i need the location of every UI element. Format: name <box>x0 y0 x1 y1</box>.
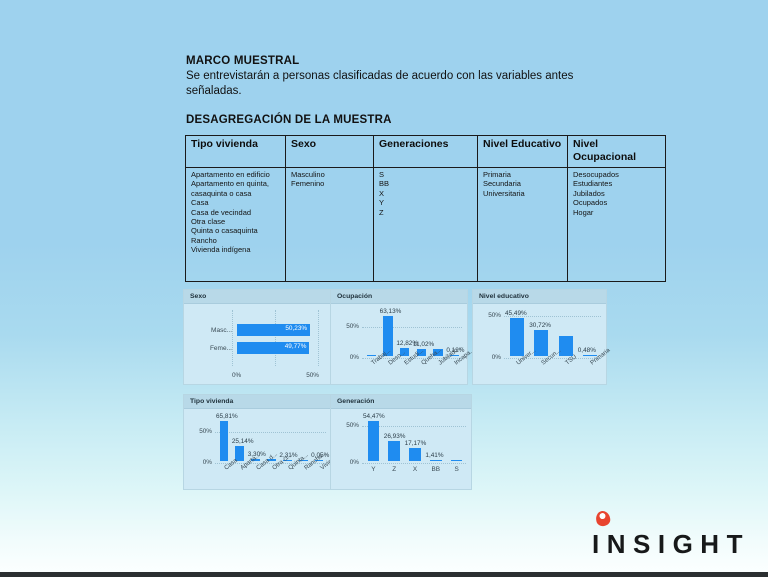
list-item: Otra clase <box>191 217 281 226</box>
bar-column[interactable] <box>368 419 379 461</box>
bar-value-label: 65,81% <box>216 413 238 420</box>
bar-rect[interactable] <box>235 446 244 461</box>
vertical-bar-chart-nivel-educativo: 0%50%45,49%30,72%0,48%Univer...Secun...T… <box>473 304 606 384</box>
bar-value-label: 17,17% <box>405 440 427 447</box>
axis-category-label: Y <box>363 466 384 473</box>
bar-value-label: 45,49% <box>505 310 527 317</box>
table-cell-nivel-educativo: PrimariaSecundariaUniversitaria <box>478 168 568 282</box>
chart-body-generacion: 0%50%54,47%26,93%17,17%1,41%YZXBBS <box>331 409 471 489</box>
chart-title-ocupacion: Ocupación <box>331 290 467 304</box>
chart-card-sexo[interactable]: Sexo Masc...50,23%Feme...49,77%0%50% <box>183 289 332 385</box>
bar-value-label: 0,48% <box>578 347 596 354</box>
bar-rect[interactable] <box>220 421 229 461</box>
list-item: S <box>379 170 473 179</box>
horizontal-bar-chart-sexo: Masc...50,23%Feme...49,77%0%50% <box>184 304 331 384</box>
chart-body-ocupacion: 0%50%63,13%12,82%11,02%0,12%Trabaj...Des… <box>331 304 467 384</box>
chart-title-generacion: Generación <box>331 395 471 409</box>
bar-row[interactable]: Feme...49,77% <box>192 342 317 354</box>
chart-card-nivel-educativo[interactable]: Nivel educativo 0%50%45,49%30,72%0,48%Un… <box>472 289 607 385</box>
bar-rect[interactable] <box>409 448 420 461</box>
page-title: MARCO MUESTRAL <box>186 54 606 68</box>
bar-column[interactable] <box>510 314 524 356</box>
bar-group: 54,47%26,93%17,17%1,41% <box>363 419 467 461</box>
bar-rect[interactable] <box>451 460 462 462</box>
axis-tick-label: 50% <box>188 428 212 435</box>
bar-track: 49,77% <box>237 342 317 354</box>
chart-body-tipo-vivienda: 0%50%65,81%25,14%3,30%2,31%0,05%CasaApar… <box>184 409 331 489</box>
table-header-tipo-vivienda: Tipo vivienda <box>186 136 286 168</box>
table-cell-sexo: MasculinoFemenino <box>286 168 374 282</box>
list-item: Casa <box>191 198 281 207</box>
list-item: Rancho <box>191 236 281 245</box>
vertical-bar-chart-generacion: 0%50%54,47%26,93%17,17%1,41%YZXBBS <box>331 409 471 489</box>
bar-row[interactable]: Masc...50,23% <box>192 324 317 336</box>
gridline <box>275 310 276 366</box>
list-item: Vivienda indígena <box>191 245 281 254</box>
list-item: Secundaria <box>483 179 563 188</box>
list-item: Z <box>379 208 473 217</box>
bar-value-label: 63,13% <box>380 308 402 315</box>
table-header-generaciones: Generaciones <box>374 136 478 168</box>
bar-column[interactable] <box>534 314 548 356</box>
bar-value-label: 50,23% <box>285 325 307 332</box>
table-header-row: Tipo vivienda Sexo Generaciones Nivel Ed… <box>186 136 666 168</box>
section-title: DESAGREGACIÓN DE LA MUESTRA <box>186 114 606 126</box>
bar-rect[interactable] <box>388 441 399 461</box>
list-sexo: MasculinoFemenino <box>291 170 369 189</box>
list-item: Femenino <box>291 179 369 188</box>
axis-category-label: X <box>405 466 426 473</box>
list-item: Y <box>379 198 473 207</box>
axis-tick-label: 50% <box>335 422 359 429</box>
table-header-nivel-educativo: Nivel Educativo <box>478 136 568 168</box>
sample-breakdown-table: Tipo vivienda Sexo Generaciones Nivel Ed… <box>185 135 666 282</box>
list-generaciones: SBBXYZ <box>379 170 473 217</box>
gridline <box>362 463 466 464</box>
list-item: Apartamento en quinta, casaquinta o casa <box>191 179 281 198</box>
table-header-nivel-ocupacional: Nivel Ocupacional <box>568 136 666 168</box>
axis-tick-label: 0% <box>335 354 359 361</box>
insight-drop-mark-icon <box>595 510 612 528</box>
list-item: Jubilados <box>573 189 661 198</box>
table-header-sexo: Sexo <box>286 136 374 168</box>
bar-column[interactable] <box>220 419 229 461</box>
table-body-row: Apartamento en edificioApartamento en qu… <box>186 168 666 282</box>
axis-tick-label: 0% <box>188 459 212 466</box>
list-nivel-educativo: PrimariaSecundariaUniversitaria <box>483 170 563 198</box>
axis-tick-label: 50% <box>477 312 501 319</box>
list-item: Apartamento en edificio <box>191 170 281 179</box>
axis-category-label: BB <box>425 466 446 473</box>
chart-title-sexo: Sexo <box>184 290 331 304</box>
insight-logo: INSIGHT <box>586 511 736 566</box>
list-item: Hogar <box>573 208 661 217</box>
axis-tick-label: 0% <box>232 372 241 379</box>
axis-tick-label: 50% <box>306 372 319 379</box>
axis-tick-label: 0% <box>335 459 359 466</box>
chart-title-nivel-educativo: Nivel educativo <box>473 290 606 304</box>
bar-rect[interactable] <box>510 318 524 356</box>
bar-group: 63,13%12,82%11,02%0,12% <box>363 314 463 356</box>
intro-paragraph: Se entrevistarán a personas clasificadas… <box>186 69 591 98</box>
bar-track: 50,23% <box>237 324 317 336</box>
axis-category-label: S <box>446 466 467 473</box>
chart-card-ocupacion[interactable]: Ocupación 0%50%63,13%12,82%11,02%0,12%Tr… <box>330 289 468 385</box>
list-item: Masculino <box>291 170 369 179</box>
bar-rect[interactable] <box>430 460 441 462</box>
bar-value-label: 11,02% <box>413 341 434 348</box>
bar-value-label: 25,14% <box>232 438 254 445</box>
table-cell-nivel-ocupacional: DesocupadosEstudiantesJubiladosOcupadosH… <box>568 168 666 282</box>
chart-title-tipo-vivienda: Tipo vivienda <box>184 395 331 409</box>
list-tipo-vivienda: Apartamento en edificioApartamento en qu… <box>191 170 281 255</box>
presentation-slide: MARCO MUESTRAL Se entrevistarán a person… <box>0 0 768 577</box>
bar-category-label: Masc... <box>192 327 237 334</box>
list-item: Desocupados <box>573 170 661 179</box>
bar-value-label: 30,72% <box>529 322 551 329</box>
chart-body-nivel-educativo: 0%50%45,49%30,72%0,48%Univer...Secun...T… <box>473 304 606 384</box>
x-axis-ticks: 0%50% <box>232 372 319 379</box>
bar-value-label: 26,93% <box>384 433 406 440</box>
vertical-bar-chart-tipo-vivienda: 0%50%65,81%25,14%3,30%2,31%0,05%CasaApar… <box>184 409 331 489</box>
bar-rect[interactable] <box>368 421 379 461</box>
axis-tick-label: 0% <box>477 354 501 361</box>
axis-tick-label: 50% <box>335 323 359 330</box>
list-nivel-ocupacional: DesocupadosEstudiantesJubiladosOcupadosH… <box>573 170 661 217</box>
chart-card-tipo-vivienda[interactable]: Tipo vivienda 0%50%65,81%25,14%3,30%2,31… <box>183 394 332 490</box>
axis-category-label: Z <box>384 466 405 473</box>
vertical-bar-chart-ocupacion: 0%50%63,13%12,82%11,02%0,12%Trabaj...Des… <box>331 304 467 384</box>
list-item: X <box>379 189 473 198</box>
bar-value-label: 49,77% <box>285 343 307 350</box>
list-item: BB <box>379 179 473 188</box>
list-item: Casa de vecindad <box>191 208 281 217</box>
gridline <box>318 310 319 366</box>
bar-category-label: Feme... <box>192 345 237 352</box>
chart-card-generacion[interactable]: Generación 0%50%54,47%26,93%17,17%1,41%Y… <box>330 394 472 490</box>
insight-wordmark: INSIGHT <box>592 529 750 560</box>
table-cell-generaciones: SBBXYZ <box>374 168 478 282</box>
table-cell-tipo-vivienda: Apartamento en edificioApartamento en qu… <box>186 168 286 282</box>
bar-column[interactable] <box>451 419 462 461</box>
heading-block: MARCO MUESTRAL Se entrevistarán a person… <box>186 54 606 126</box>
bar-value-label: 1,41% <box>425 452 443 459</box>
list-item: Primaria <box>483 170 563 179</box>
chart-body-sexo: Masc...50,23%Feme...49,77%0%50% <box>184 304 331 384</box>
bar-value-label: 54,47% <box>363 413 385 420</box>
gridline <box>232 310 233 366</box>
list-item: Estudiantes <box>573 179 661 188</box>
list-item: Universitaria <box>483 189 563 198</box>
bar-column[interactable] <box>367 314 377 356</box>
list-item: Quinta o casaquinta <box>191 226 281 235</box>
list-item: Ocupados <box>573 198 661 207</box>
